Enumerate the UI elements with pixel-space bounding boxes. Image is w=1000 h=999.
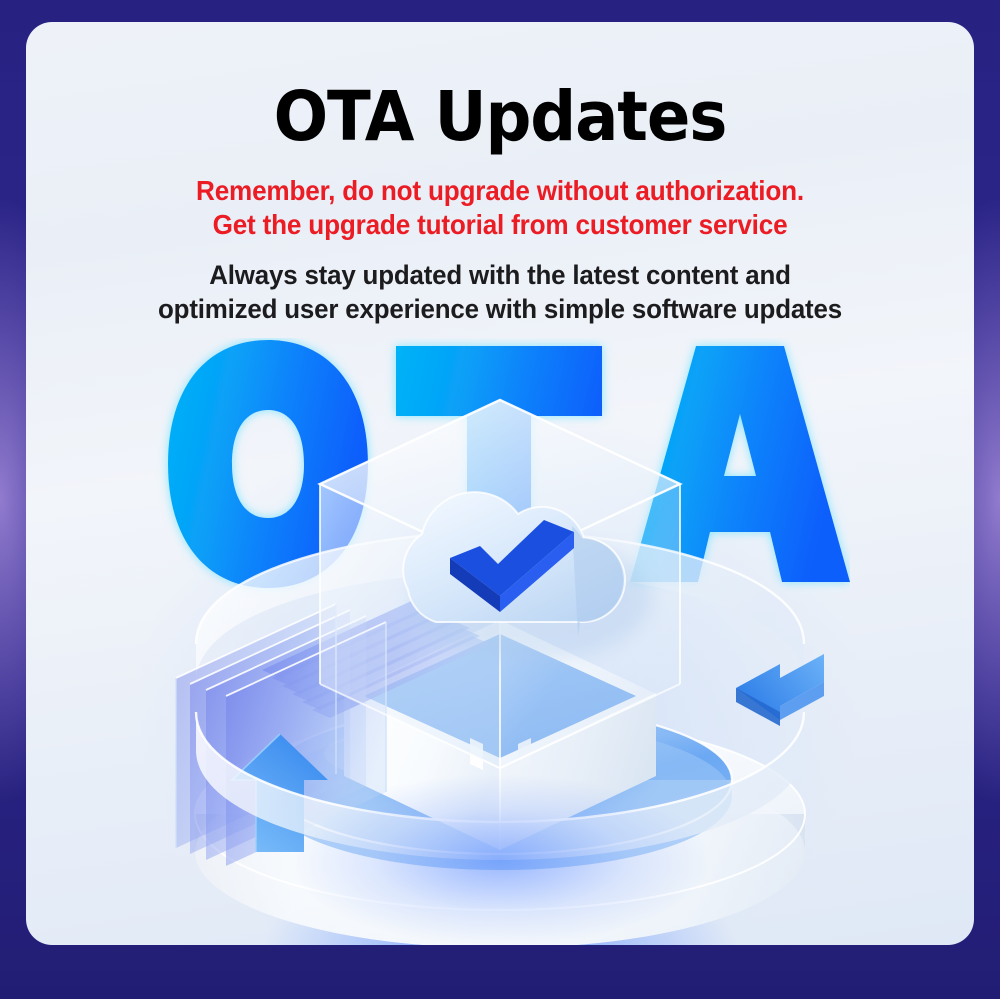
description-line-1: Always stay updated with the latest cont…: [45, 259, 955, 293]
page-title: OTA Updates: [59, 22, 941, 150]
ota-illustration: [26, 382, 974, 945]
warning-line-1: Remember, do not upgrade without authori…: [50, 174, 951, 208]
warning-line-2: Get the upgrade tutorial from customer s…: [50, 208, 951, 242]
description-text: Always stay updated with the latest cont…: [45, 242, 955, 327]
banner-card: OTA Updates Remember, do not upgrade wit…: [26, 22, 974, 945]
banner-frame: OTA Updates Remember, do not upgrade wit…: [0, 0, 1000, 999]
banner-header: OTA Updates Remember, do not upgrade wit…: [26, 22, 974, 327]
description-line-2: optimized user experience with simple so…: [45, 293, 955, 327]
warning-text: Remember, do not upgrade without authori…: [50, 150, 951, 242]
left-arrow-icon: [736, 654, 824, 726]
